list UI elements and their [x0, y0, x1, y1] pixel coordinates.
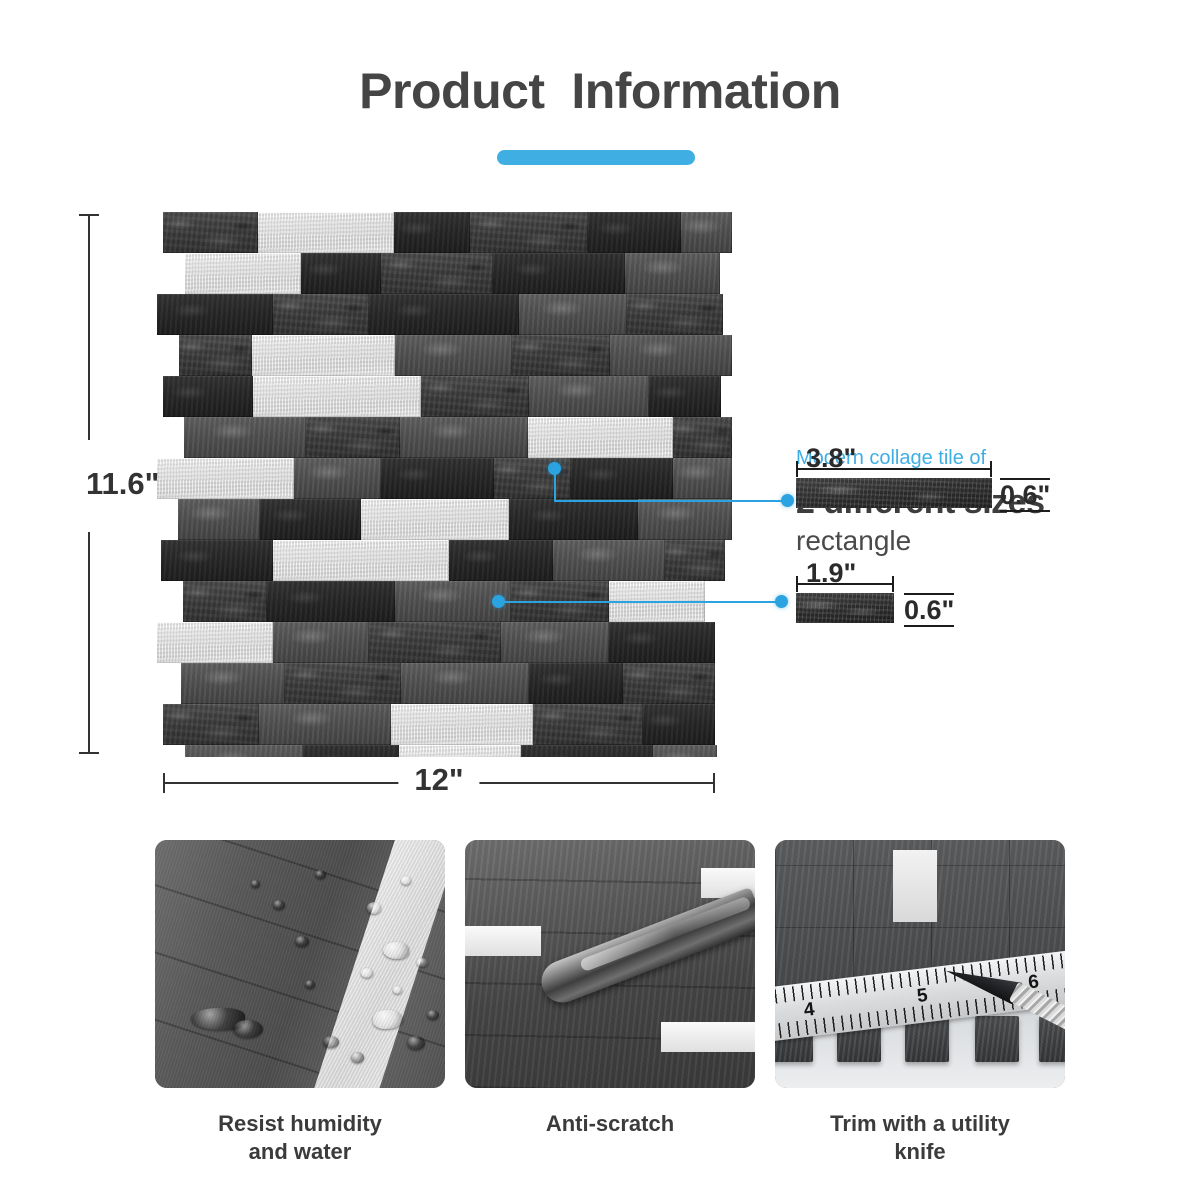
- tile-strip: [512, 335, 610, 376]
- feature-caption-trim-knife: Trim with a utility knife: [775, 1110, 1065, 1165]
- tile-strip: [529, 376, 649, 417]
- callout-leader-small: [492, 595, 798, 609]
- tile-strip: [267, 581, 395, 622]
- tile-strip: [260, 499, 361, 540]
- product-information-page: Product Information 11.6" 12" Modern col…: [0, 0, 1200, 1200]
- drill-bit: [535, 887, 755, 1009]
- tile-strip: [185, 745, 303, 757]
- tile-accent-strip: [399, 745, 521, 757]
- tile-strip: [609, 622, 715, 663]
- tile-strip: [529, 663, 623, 704]
- tile-row: [157, 253, 732, 294]
- tile-strip: [470, 212, 588, 253]
- callout-dot-swatch-large: [781, 494, 794, 507]
- tile-accent-strip: [185, 253, 301, 294]
- tile-strip: [273, 294, 369, 335]
- tile-edge-gap: [157, 581, 183, 622]
- tile-strip: [627, 294, 723, 335]
- ruler-mark-5: 5: [916, 985, 929, 1008]
- size-swatch-large: 3.8" 0.6": [796, 432, 1056, 528]
- tile-row: [157, 499, 732, 540]
- tile-strip: [533, 704, 643, 745]
- tile-strip: [369, 294, 519, 335]
- size-swatch-small: 1.9" 0.6": [796, 547, 1056, 643]
- tile-strip: [306, 417, 400, 458]
- tile-accent-strip: [361, 499, 509, 540]
- tile-row: [157, 212, 732, 253]
- feature-caption-resist-humidity: Resist humidity and water: [155, 1110, 445, 1165]
- tile-strip: [638, 499, 732, 540]
- tile-row: [157, 540, 732, 581]
- tile-row: [157, 622, 732, 663]
- tile-edge-gap: [157, 663, 181, 704]
- tile-accent-strip: [273, 540, 449, 581]
- tile-strip: [421, 376, 529, 417]
- height-dimension: 11.6": [88, 214, 90, 754]
- tile-row: [157, 335, 732, 376]
- tile-edge-gap: [157, 499, 178, 540]
- tile-edge-gap: [717, 745, 732, 757]
- feature-photo-water-droplets: [155, 840, 445, 1088]
- tile-strip: [501, 622, 609, 663]
- page-title: Product Information: [0, 62, 1200, 120]
- tile-strip: [673, 417, 732, 458]
- callout-leader-large: [548, 468, 798, 504]
- tile-row: [157, 745, 732, 757]
- tile-strip: [625, 253, 720, 294]
- tile-edge-gap: [715, 704, 732, 745]
- tile-strip: [161, 540, 273, 581]
- feature-anti-scratch: Anti-scratch: [465, 840, 755, 1138]
- tile-edge-gap: [725, 540, 732, 581]
- ruler-mark-4: 4: [803, 999, 816, 1022]
- callout-dot-swatch-small: [775, 595, 788, 608]
- feature-photo-drill-bit: [465, 840, 755, 1088]
- feature-resist-humidity: Resist humidity and water: [155, 840, 445, 1165]
- tile-strip: [681, 212, 732, 253]
- tile-strip: [381, 253, 493, 294]
- width-dimension-label: 12": [398, 762, 479, 798]
- tile-strip: [401, 663, 529, 704]
- tile-strip: [285, 663, 401, 704]
- tile-strip: [184, 417, 306, 458]
- tile-strip: [643, 704, 715, 745]
- title-underline-bar: [497, 150, 695, 165]
- tile-strip: [509, 499, 638, 540]
- tile-row: [157, 704, 732, 745]
- tile-strip: [181, 663, 285, 704]
- tile-strip: [588, 212, 681, 253]
- tile-row: [157, 663, 732, 704]
- width-dimension: 12": [163, 782, 715, 784]
- tile-white-tab: [893, 850, 937, 922]
- tile-strip: [394, 212, 470, 253]
- tile-accent-strip: [157, 458, 294, 499]
- tile-strip: [395, 335, 512, 376]
- tile-edge-gap: [157, 417, 184, 458]
- tile-strip: [665, 540, 725, 581]
- feature-row: Resist humidity and water Anti-scratch: [0, 840, 1200, 1170]
- tile-strip: [649, 376, 721, 417]
- swatch-small-tile: [796, 593, 894, 623]
- tile-accent-strip: [391, 704, 533, 745]
- tile-accent-strip: [157, 622, 273, 663]
- tile-strip: [179, 335, 252, 376]
- swatch-small-height-label: 0.6": [904, 593, 954, 627]
- tile-strip: [163, 376, 253, 417]
- tile-strip: [521, 745, 653, 757]
- tile-row: [157, 376, 732, 417]
- tile-strip: [493, 253, 625, 294]
- tile-accent-strip: [528, 417, 673, 458]
- page-header: Product Information: [0, 0, 1200, 190]
- tile-edge-gap: [157, 335, 179, 376]
- tile-strip: [369, 622, 501, 663]
- tile-strip: [294, 458, 380, 499]
- tile-accent-strip: [258, 212, 394, 253]
- feature-photo-utility-knife: 4 5 6: [775, 840, 1065, 1088]
- tile-edge-gap: [715, 622, 732, 663]
- tile-edge-gap: [723, 294, 732, 335]
- tile-strip: [301, 253, 381, 294]
- tile-strip: [163, 212, 258, 253]
- tile-strip: [273, 622, 369, 663]
- feature-trim-knife: 4 5 6 Trim with a utility knife: [775, 840, 1065, 1165]
- tile-strip: [183, 581, 267, 622]
- tile-strip: [259, 704, 391, 745]
- tile-accent-strip: [252, 335, 395, 376]
- tile-row: [157, 417, 732, 458]
- tile-strip: [653, 745, 717, 757]
- tile-strip: [610, 335, 732, 376]
- tile-diagram-area: 11.6" 12" Modern collage tile of 2 diffe…: [0, 200, 1200, 820]
- tile-edge-gap: [157, 745, 185, 757]
- tile-strip: [178, 499, 260, 540]
- tile-strip: [381, 458, 494, 499]
- tile-strip: [303, 745, 399, 757]
- tile-edge-gap: [721, 376, 732, 417]
- tile-edge-gap: [157, 253, 185, 294]
- feature-caption-anti-scratch: Anti-scratch: [465, 1110, 755, 1138]
- tile-edge-gap: [720, 253, 732, 294]
- tile-strip: [519, 294, 627, 335]
- swatch-large-tile: [796, 478, 992, 508]
- tile-strip: [553, 540, 665, 581]
- tile-edge-gap: [715, 663, 732, 704]
- swatch-large-height-label: 0.6": [1000, 478, 1050, 512]
- tile-row: [157, 294, 732, 335]
- tile-strip: [623, 663, 715, 704]
- tile-strip: [449, 540, 553, 581]
- tile-strip: [163, 704, 259, 745]
- tile-strip: [400, 417, 528, 458]
- tile-accent-strip: [253, 376, 421, 417]
- tile-strip: [157, 294, 273, 335]
